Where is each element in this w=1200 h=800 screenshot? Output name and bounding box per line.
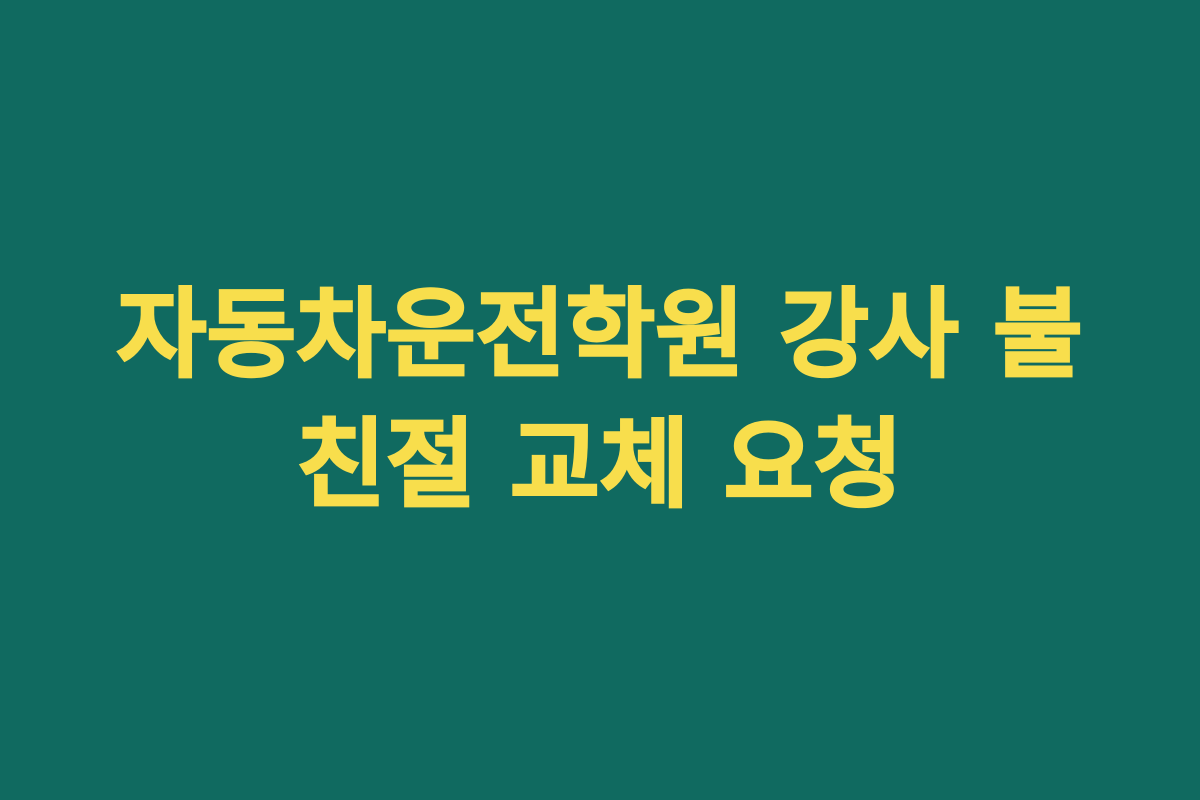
headline-line-1: 자동차운전학원 강사 불 — [70, 270, 1130, 400]
headline-line-2: 친절 교체 요청 — [70, 400, 1130, 530]
banner-canvas: 자동차운전학원 강사 불 친절 교체 요청 — [0, 0, 1200, 800]
page-title: 자동차운전학원 강사 불 친절 교체 요청 — [70, 270, 1130, 530]
